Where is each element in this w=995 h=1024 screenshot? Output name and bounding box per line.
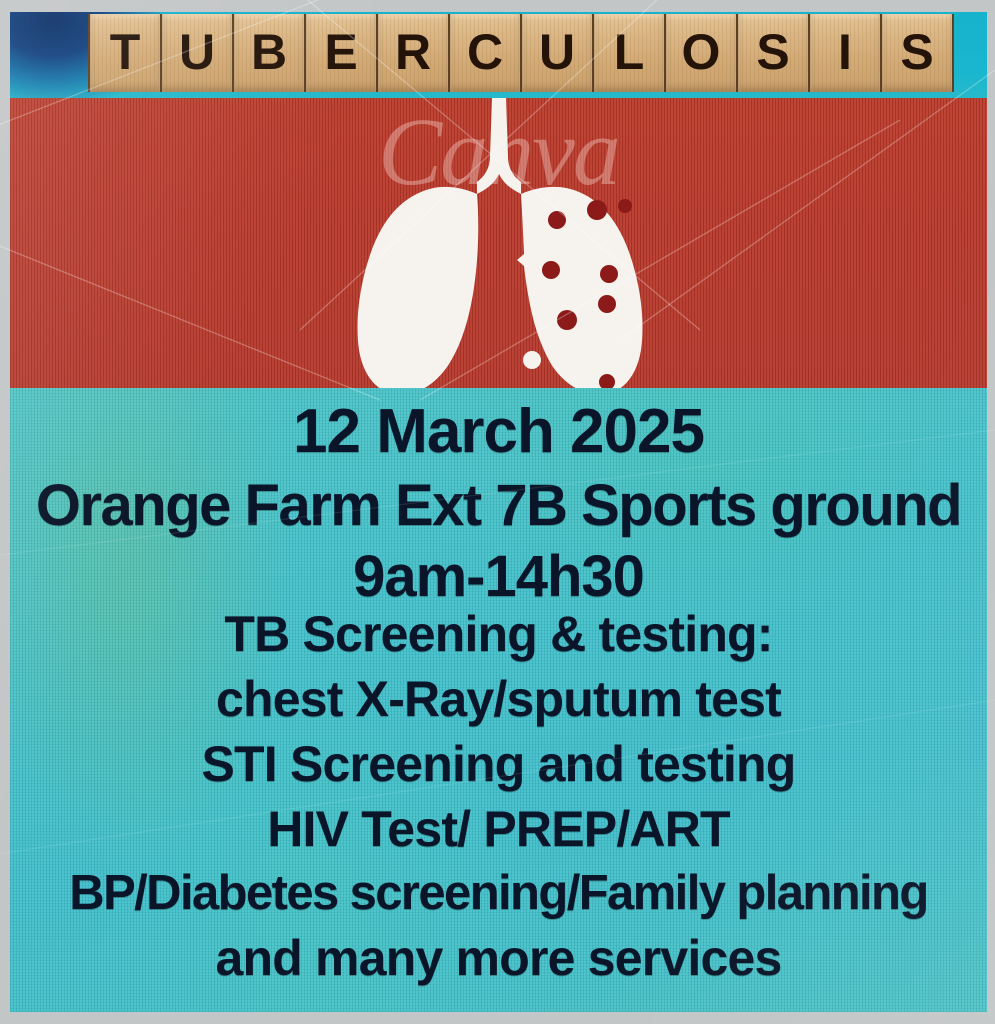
letter-tile: C [450,14,522,92]
letter-tile: S [882,14,954,92]
letter-tile: S [738,14,810,92]
tile-letter: E [324,27,357,77]
event-venue: Orange Farm Ext 7B Sports ground [10,475,987,538]
tile-letter: R [395,27,431,77]
tuberculosis-tile-row: T U B E R C U L O S I S [88,14,954,92]
letter-tile: U [162,14,234,92]
letter-tile: U [522,14,594,92]
letter-tile: L [594,14,666,92]
service-item: STI Screening and testing [10,732,987,797]
tile-letter: U [179,27,215,77]
tile-letter: L [614,27,645,77]
tile-letter: O [682,27,721,77]
letter-tile: E [306,14,378,92]
service-item: HIV Test/ PREP/ART [10,797,987,862]
lungs-illustration [289,98,709,388]
poster-header-band: T U B E R C U L O S I S [10,12,987,98]
poster-canvas: T U B E R C U L O S I S Canva [10,12,987,1012]
service-item: BP/Diabetes screening/Family planning [10,862,987,926]
tile-letter: U [539,27,575,77]
tile-letter: S [756,27,789,77]
tile-letter: B [251,27,287,77]
tile-letter: T [110,27,141,77]
letter-tile: R [378,14,450,92]
tile-letter: I [838,27,852,77]
letter-tile: O [666,14,738,92]
poster-photo: T U B E R C U L O S I S Canva [0,0,995,1024]
letter-tile: I [810,14,882,92]
letter-tile: B [234,14,306,92]
service-item: and many more services [10,926,987,991]
service-item: chest X-Ray/sputum test [10,667,987,732]
tile-letter: S [900,27,933,77]
event-date: 12 March 2025 [10,400,987,463]
details-text-block: 12 March 2025 Orange Farm Ext 7B Sports … [10,388,987,1012]
event-details-panel: 12 March 2025 Orange Farm Ext 7B Sports … [10,388,987,1012]
letter-tile: T [88,14,162,92]
event-time: 9am-14h30 [10,548,987,606]
service-item: TB Screening & testing: [10,602,987,667]
tile-letter: C [467,27,503,77]
lung-image-panel: Canva [10,98,987,388]
